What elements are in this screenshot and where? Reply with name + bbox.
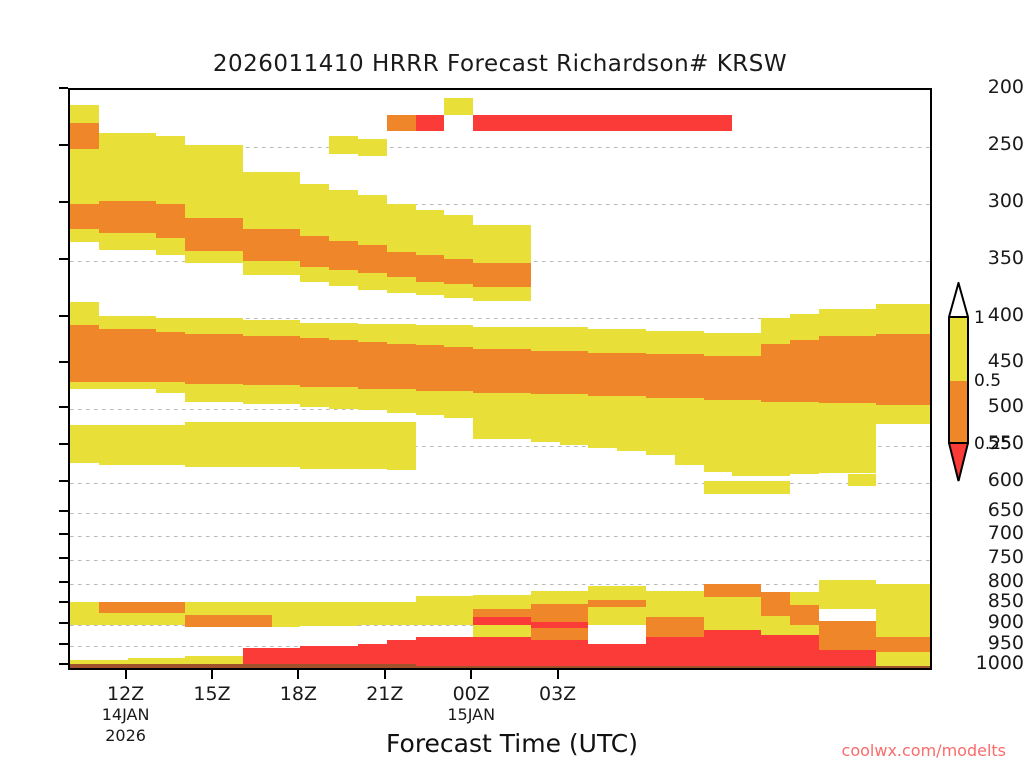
heatmap-cell bbox=[704, 597, 733, 609]
heatmap-cell bbox=[156, 382, 185, 393]
heatmap-cell bbox=[617, 396, 646, 450]
heatmap-cell bbox=[243, 229, 272, 261]
heatmap-cell bbox=[272, 615, 301, 627]
heatmap-cell bbox=[531, 394, 560, 442]
heatmap-cell bbox=[272, 172, 301, 229]
heatmap-cell bbox=[272, 602, 301, 614]
heatmap-cell bbox=[444, 215, 473, 258]
heatmap-cell bbox=[329, 270, 358, 286]
heatmap-cell bbox=[819, 403, 848, 473]
heatmap-cell bbox=[358, 195, 387, 245]
heatmap-cell bbox=[646, 398, 675, 455]
heatmap-cell bbox=[502, 393, 531, 439]
heatmap-cell bbox=[156, 238, 185, 255]
heatmap-cell bbox=[848, 580, 877, 595]
heatmap-cell bbox=[214, 145, 243, 218]
heatmap-cell bbox=[560, 640, 589, 667]
y-axis-tick-350 bbox=[59, 258, 68, 260]
heatmap-cell bbox=[617, 607, 646, 625]
heatmap-cell bbox=[387, 389, 416, 413]
colorbar-label-1: 1 bbox=[974, 308, 985, 328]
y-axis-tick-label-700: 700 bbox=[968, 522, 1024, 544]
heatmap-cell bbox=[70, 613, 99, 624]
heatmap-cell bbox=[243, 336, 272, 385]
colorbar-segment-1-0.5 bbox=[950, 318, 967, 383]
heatmap-cell bbox=[790, 625, 819, 635]
heatmap-cell bbox=[675, 625, 704, 637]
colorbar-bottom-arrow bbox=[948, 442, 969, 482]
heatmap-cell bbox=[99, 329, 128, 382]
heatmap-cell bbox=[128, 133, 157, 200]
heatmap-cell bbox=[876, 405, 905, 424]
y-axis-tick-200 bbox=[59, 87, 68, 89]
x-axis-tick-label-00Z: 00Z bbox=[453, 683, 490, 705]
heatmap-cell bbox=[358, 245, 387, 272]
heatmap-cell bbox=[704, 481, 733, 494]
heatmap-cell bbox=[300, 646, 329, 666]
x-axis-tick-12Z bbox=[125, 670, 127, 679]
heatmap-cell bbox=[761, 360, 790, 402]
heatmap-cell bbox=[272, 385, 301, 404]
heatmap-cell bbox=[214, 422, 243, 467]
heatmap-cell bbox=[588, 600, 617, 607]
heatmap-cell bbox=[128, 316, 157, 329]
heatmap-cell bbox=[214, 318, 243, 334]
heatmap-cell bbox=[588, 607, 617, 625]
y-axis-tick-label-1000: 1000 bbox=[968, 652, 1024, 674]
heatmap-cell bbox=[531, 115, 560, 131]
heatmap-cell bbox=[70, 349, 99, 382]
heatmap-cell bbox=[819, 621, 848, 633]
heatmap-cell bbox=[473, 617, 502, 625]
heatmap-cell bbox=[185, 145, 214, 218]
heatmap-cell bbox=[646, 591, 675, 605]
heatmap-cell bbox=[732, 400, 761, 476]
heatmap-cell bbox=[416, 345, 445, 390]
x-axis-tick-label-21Z: 21Z bbox=[366, 683, 403, 705]
heatmap-cell bbox=[214, 615, 243, 627]
heatmap-cell bbox=[358, 422, 387, 468]
heatmap-cell bbox=[819, 362, 848, 404]
heatmap-cell bbox=[70, 425, 99, 463]
y-axis-tick-750 bbox=[59, 557, 68, 559]
heatmap-cell bbox=[905, 304, 932, 334]
heatmap-cell bbox=[444, 391, 473, 418]
y-axis-tick-600 bbox=[59, 480, 68, 482]
colorbar-top-arrow-outline bbox=[948, 282, 969, 318]
heatmap-cell bbox=[704, 333, 733, 357]
heatmap-cell bbox=[272, 261, 301, 275]
heatmap-cell bbox=[502, 263, 531, 287]
heatmap-cell bbox=[819, 580, 848, 595]
heatmap-cell bbox=[560, 628, 589, 639]
heatmap-cell bbox=[300, 602, 329, 614]
heatmap-cell bbox=[560, 622, 589, 629]
heatmap-cell bbox=[444, 98, 473, 115]
heatmap-cell bbox=[848, 474, 877, 485]
heatmap-cells bbox=[70, 90, 930, 668]
heatmap-cell bbox=[243, 615, 272, 627]
y-axis-tick-label-450: 450 bbox=[968, 350, 1024, 372]
heatmap-cell bbox=[617, 644, 646, 666]
heatmap-cell bbox=[675, 591, 704, 605]
heatmap-cell bbox=[185, 251, 214, 264]
heatmap-cell bbox=[416, 282, 445, 296]
heatmap-cell bbox=[732, 609, 761, 620]
heatmap-cell bbox=[502, 625, 531, 638]
colorbar-label-0.25: 0.25 bbox=[974, 434, 1012, 454]
y-axis-tick-700 bbox=[59, 533, 68, 535]
heatmap-cell bbox=[358, 324, 387, 341]
heatmap-cell bbox=[70, 123, 99, 149]
heatmap-cell bbox=[876, 637, 905, 651]
heatmap-cell bbox=[358, 273, 387, 290]
heatmap-cell bbox=[876, 652, 905, 666]
y-axis-tick-label-850: 850 bbox=[968, 590, 1024, 612]
heatmap-cell bbox=[387, 602, 416, 614]
heatmap-cell bbox=[675, 354, 704, 398]
heatmap-cell bbox=[185, 334, 214, 383]
heatmap-cell bbox=[70, 105, 99, 123]
heatmap-cell bbox=[156, 425, 185, 465]
colorbar-body bbox=[948, 318, 969, 444]
heatmap-cell bbox=[444, 637, 473, 666]
y-axis-tick-label-950: 950 bbox=[968, 632, 1024, 654]
heatmap-cell bbox=[790, 314, 819, 340]
heatmap-cell bbox=[790, 605, 819, 616]
heatmap-cell bbox=[819, 633, 848, 650]
heatmap-cell bbox=[790, 360, 819, 402]
heatmap-cell bbox=[761, 481, 790, 494]
heatmap-cell bbox=[876, 365, 905, 405]
colorbar-label-0.5: 0.5 bbox=[974, 371, 1001, 391]
heatmap-cell bbox=[444, 325, 473, 347]
heatmap-cell bbox=[185, 602, 214, 614]
heatmap-cell bbox=[761, 625, 790, 635]
heatmap-cell bbox=[761, 616, 790, 625]
heatmap-cell bbox=[675, 617, 704, 625]
heatmap-cell bbox=[646, 617, 675, 625]
heatmap-cell bbox=[300, 267, 329, 282]
heatmap-cell bbox=[819, 609, 848, 621]
heatmap-cell bbox=[502, 327, 531, 349]
gridline-800 bbox=[70, 584, 930, 585]
heatmap-cell bbox=[243, 602, 272, 614]
heatmap-cell bbox=[156, 318, 185, 332]
heatmap-cell bbox=[416, 325, 445, 345]
heatmap-cell bbox=[617, 625, 646, 644]
heatmap-cell bbox=[444, 284, 473, 298]
heatmap-cell bbox=[848, 403, 877, 473]
heatmap-cell bbox=[646, 625, 675, 637]
heatmap-cell bbox=[588, 353, 617, 397]
y-axis-tick-label-750: 750 bbox=[968, 546, 1024, 568]
heatmap-cell bbox=[358, 389, 387, 410]
heatmap-cell bbox=[156, 332, 185, 382]
heatmap-cell bbox=[502, 595, 531, 610]
heatmap-cell bbox=[387, 615, 416, 625]
y-axis-tick-400 bbox=[59, 315, 68, 317]
heatmap-cell bbox=[646, 605, 675, 616]
heatmap-cell bbox=[185, 615, 214, 627]
heatmap-cell bbox=[905, 584, 932, 598]
heatmap-cell bbox=[531, 613, 560, 621]
heatmap-cell bbox=[531, 604, 560, 613]
heatmap-cell bbox=[416, 596, 445, 612]
heatmap-cell bbox=[905, 611, 932, 623]
heatmap-cell bbox=[99, 133, 128, 200]
heatmap-cell bbox=[502, 287, 531, 301]
heatmap-cell bbox=[732, 597, 761, 609]
heatmap-cell bbox=[99, 602, 128, 613]
heatmap-cell bbox=[732, 584, 761, 597]
heatmap-cell bbox=[387, 344, 416, 389]
heatmap-cell bbox=[761, 605, 790, 616]
terrain-mask-1 bbox=[416, 666, 932, 670]
heatmap-cell bbox=[848, 633, 877, 650]
terrain-mask-0 bbox=[70, 664, 416, 670]
heatmap-cell bbox=[646, 354, 675, 398]
heatmap-cell bbox=[99, 425, 128, 465]
heatmap-cell bbox=[272, 320, 301, 336]
heatmap-cell bbox=[300, 422, 329, 468]
y-axis-tick-label-250: 250 bbox=[968, 133, 1024, 155]
heatmap-cell bbox=[128, 201, 157, 233]
x-axis-tick-label-12Z: 12Z bbox=[107, 683, 144, 705]
gridline-700 bbox=[70, 536, 930, 537]
heatmap-cell bbox=[300, 323, 329, 338]
x-axis-date-label-15JAN: 15JAN bbox=[447, 705, 495, 724]
heatmap-cell bbox=[675, 398, 704, 465]
heatmap-cell bbox=[70, 229, 99, 242]
heatmap-cell bbox=[790, 592, 819, 605]
heatmap-cell bbox=[617, 353, 646, 397]
heatmap-cell bbox=[704, 584, 733, 597]
heatmap-cell bbox=[128, 329, 157, 382]
heatmap-cell bbox=[560, 394, 589, 444]
heatmap-cell bbox=[588, 329, 617, 353]
heatmap-cell bbox=[560, 115, 589, 131]
heatmap-cell bbox=[502, 609, 531, 616]
heatmap-cell bbox=[70, 602, 99, 613]
heatmap-cell bbox=[416, 391, 445, 415]
heatmap-cell bbox=[819, 336, 848, 361]
heatmap-cell bbox=[905, 598, 932, 610]
heatmap-cell bbox=[243, 320, 272, 336]
heatmap-cell bbox=[502, 617, 531, 625]
heatmap-cell bbox=[848, 309, 877, 336]
y-axis-tick-label-900: 900 bbox=[968, 611, 1024, 633]
heatmap-cell bbox=[531, 640, 560, 667]
heatmap-cell bbox=[473, 637, 502, 666]
watermark: coolwx.com/modelts bbox=[842, 741, 1006, 760]
heatmap-cell bbox=[876, 623, 905, 638]
heatmap-cell bbox=[876, 584, 905, 598]
y-axis-tick-850 bbox=[59, 601, 68, 603]
colorbar-segment-0.5-0.25 bbox=[950, 381, 967, 444]
heatmap-cell bbox=[848, 621, 877, 633]
heatmap-cell bbox=[70, 325, 99, 349]
heatmap-cell bbox=[243, 261, 272, 275]
heatmap-cell bbox=[790, 340, 819, 360]
y-axis-tick-1000 bbox=[59, 663, 68, 665]
x-axis-tick-label-18Z: 18Z bbox=[280, 683, 317, 705]
heatmap-cell bbox=[416, 613, 445, 625]
x-axis-date-label-14JAN: 14JAN bbox=[102, 705, 150, 724]
heatmap-cell bbox=[905, 652, 932, 666]
heatmap-cell bbox=[876, 611, 905, 623]
heatmap-cell bbox=[646, 331, 675, 355]
heatmap-cell bbox=[848, 596, 877, 609]
heatmap-cell bbox=[790, 616, 819, 625]
heatmap-cell bbox=[704, 630, 733, 666]
heatmap-cell bbox=[617, 115, 646, 131]
heatmap-cell bbox=[848, 650, 877, 666]
heatmap-cell bbox=[732, 630, 761, 666]
heatmap-cell bbox=[905, 405, 932, 424]
heatmap-cell bbox=[531, 327, 560, 351]
heatmap-cell bbox=[329, 190, 358, 240]
heatmap-cell bbox=[70, 382, 99, 389]
heatmap-cell bbox=[387, 324, 416, 343]
x-axis-tick-00Z bbox=[470, 670, 472, 679]
heatmap-cell bbox=[444, 259, 473, 284]
heatmap-cell bbox=[416, 637, 445, 666]
heatmap-cell bbox=[531, 628, 560, 639]
heatmap-cell bbox=[387, 204, 416, 252]
y-axis-tick-label-350: 350 bbox=[968, 247, 1024, 269]
x-axis-tick-label-03Z: 03Z bbox=[539, 683, 576, 705]
plot-area bbox=[68, 88, 932, 670]
heatmap-cell bbox=[876, 304, 905, 334]
x-axis-tick-21Z bbox=[384, 670, 386, 679]
heatmap-cell bbox=[387, 640, 416, 667]
heatmap-cell bbox=[646, 637, 675, 667]
heatmap-cell bbox=[300, 387, 329, 407]
heatmap-cell bbox=[473, 349, 502, 393]
x-axis-tick-15Z bbox=[211, 670, 213, 679]
heatmap-cell bbox=[156, 136, 185, 204]
heatmap-cell bbox=[588, 644, 617, 666]
heatmap-cell bbox=[473, 393, 502, 439]
x-axis-tick-18Z bbox=[297, 670, 299, 679]
heatmap-cell bbox=[70, 204, 99, 229]
heatmap-cell bbox=[416, 115, 445, 131]
heatmap-cell bbox=[214, 334, 243, 383]
heatmap-cell bbox=[502, 225, 531, 264]
heatmap-cell bbox=[675, 605, 704, 616]
heatmap-cell bbox=[387, 277, 416, 293]
heatmap-cell bbox=[531, 622, 560, 629]
heatmap-cell bbox=[444, 596, 473, 612]
heatmap-cell bbox=[905, 623, 932, 638]
heatmap-cell bbox=[761, 635, 790, 666]
x-axis-tick-03Z bbox=[557, 670, 559, 679]
heatmap-cell bbox=[819, 596, 848, 609]
heatmap-cell bbox=[329, 340, 358, 387]
heatmap-cell bbox=[704, 400, 733, 472]
heatmap-cell bbox=[473, 225, 502, 264]
heatmap-cell bbox=[329, 387, 358, 409]
heatmap-cell bbox=[560, 613, 589, 621]
heatmap-cell bbox=[675, 331, 704, 355]
heatmap-cell bbox=[243, 172, 272, 229]
heatmap-cell bbox=[185, 422, 214, 467]
heatmap-cell bbox=[99, 233, 128, 250]
heatmap-cell bbox=[588, 625, 617, 644]
heatmap-cell bbox=[358, 644, 387, 666]
heatmap-cell bbox=[214, 218, 243, 251]
heatmap-cell bbox=[99, 316, 128, 329]
heatmap-cell bbox=[99, 201, 128, 233]
heatmap-cell bbox=[387, 115, 416, 131]
heatmap-cell bbox=[156, 613, 185, 624]
heatmap-cell bbox=[473, 327, 502, 349]
heatmap-cell bbox=[761, 592, 790, 605]
heatmap-cell bbox=[617, 600, 646, 607]
heatmap-cell bbox=[329, 323, 358, 340]
heatmap-cell bbox=[70, 149, 99, 204]
heatmap-cell bbox=[704, 115, 733, 131]
heatmap-cell bbox=[444, 613, 473, 625]
gridline-600 bbox=[70, 483, 930, 484]
heatmap-cell bbox=[819, 650, 848, 666]
heatmap-cell bbox=[732, 333, 761, 357]
heatmap-cell bbox=[473, 263, 502, 287]
heatmap-cell bbox=[790, 635, 819, 666]
heatmap-cell bbox=[156, 204, 185, 238]
heatmap-cell bbox=[473, 609, 502, 616]
heatmap-cell bbox=[905, 637, 932, 651]
y-axis-tick-500 bbox=[59, 406, 68, 408]
heatmap-cell bbox=[243, 385, 272, 404]
y-axis-tick-300 bbox=[59, 201, 68, 203]
heatmap-cell bbox=[329, 241, 358, 271]
heatmap-cell bbox=[473, 115, 502, 131]
y-axis-tick-label-300: 300 bbox=[968, 190, 1024, 212]
heatmap-cell bbox=[905, 334, 932, 365]
heatmap-cell bbox=[848, 609, 877, 621]
heatmap-cell bbox=[473, 595, 502, 610]
heatmap-cell bbox=[214, 602, 243, 614]
heatmap-cell bbox=[329, 602, 358, 614]
heatmap-cell bbox=[272, 229, 301, 261]
gridline-750 bbox=[70, 560, 930, 561]
heatmap-cell bbox=[300, 236, 329, 267]
heatmap-cell bbox=[819, 309, 848, 336]
heatmap-cell bbox=[329, 646, 358, 666]
heatmap-cell bbox=[502, 115, 531, 131]
heatmap-cell bbox=[502, 349, 531, 393]
y-axis-tick-950 bbox=[59, 643, 68, 645]
heatmap-cell bbox=[329, 422, 358, 468]
heatmap-cell bbox=[531, 351, 560, 395]
heatmap-cell bbox=[128, 613, 157, 624]
heatmap-cell bbox=[272, 422, 301, 467]
heatmap-cell bbox=[128, 425, 157, 465]
heatmap-cell bbox=[70, 302, 99, 325]
y-axis-tick-650 bbox=[59, 510, 68, 512]
heatmap-cell bbox=[214, 251, 243, 264]
heatmap-cell bbox=[675, 115, 704, 131]
heatmap-cell bbox=[876, 598, 905, 610]
heatmap-cell bbox=[560, 327, 589, 351]
heatmap-cell bbox=[905, 365, 932, 405]
heatmap-cell bbox=[732, 481, 761, 494]
heatmap-cell bbox=[704, 356, 733, 400]
heatmap-cell bbox=[560, 604, 589, 613]
heatmap-cell bbox=[848, 362, 877, 404]
